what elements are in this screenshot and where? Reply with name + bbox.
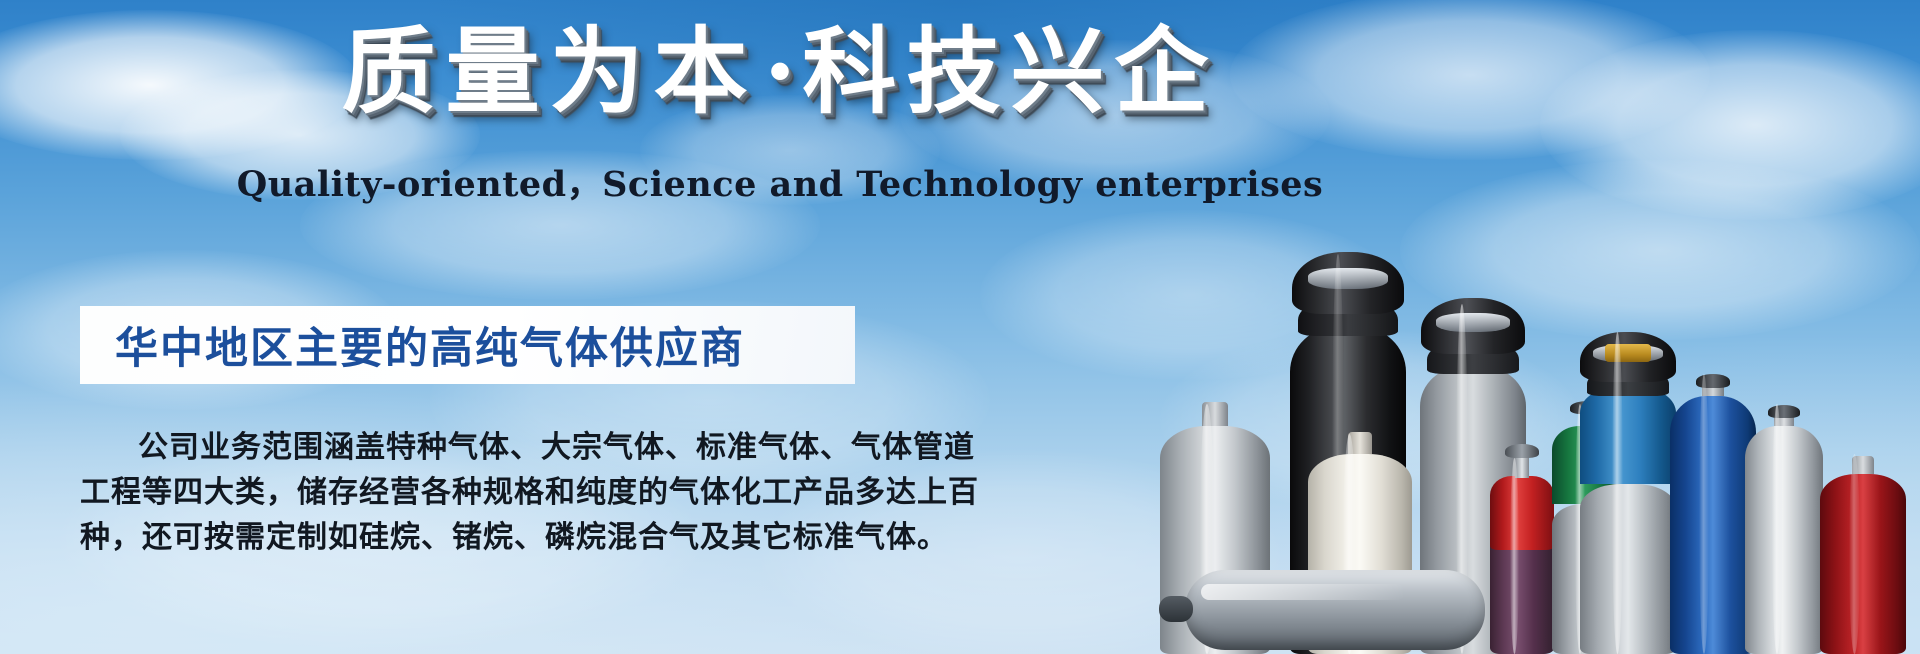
body-paragraph: 公司业务范围涵盖特种气体、大宗气体、标准气体、气体管道 工程等四大类，储存经营各…: [80, 425, 870, 560]
cylinder-red-dark-right: [1820, 454, 1906, 654]
cylinder-photo-group: [1180, 0, 1920, 654]
callout-box: 华中地区主要的高纯气体供应商: [80, 306, 855, 384]
headline-text: 质量为本·科技兴企: [342, 22, 1219, 124]
cylinder-valve-guard: [1292, 252, 1404, 314]
body-line: 公司业务范围涵盖特种气体、大宗气体、标准气体、气体管道: [80, 425, 870, 470]
promo-banner: 质量为本·科技兴企 Quality-oriented，Science and T…: [0, 0, 1920, 654]
brass-valve-icon: [1605, 344, 1651, 362]
headline-part-1: 质量为本: [342, 17, 758, 127]
cylinder-blue-grey-tall: [1580, 332, 1676, 654]
callout-text: 华中地区主要的高纯气体供应商: [80, 314, 745, 376]
cylinder-silver-aluminium: [1745, 404, 1823, 654]
cylinder-valve-guard: [1421, 298, 1525, 354]
body-line: 工程等四大类，储存经营各种规格和纯度的气体化工产品多达上百: [80, 470, 870, 515]
cylinder-red-small: [1490, 458, 1554, 654]
headline-separator-dot: ·: [758, 17, 803, 127]
cylinder-valve-knob: [1505, 444, 1539, 458]
body-line: 种，还可按需定制如硅烷、锗烷、磷烷混合气及其它标准气体。: [80, 515, 870, 560]
cylinder-valve-knob: [1768, 405, 1800, 418]
cylinder-blue-royal: [1670, 374, 1756, 654]
cylinder-silver-lying-front: [1185, 570, 1485, 650]
headline-part-2: 科技兴企: [802, 17, 1218, 127]
